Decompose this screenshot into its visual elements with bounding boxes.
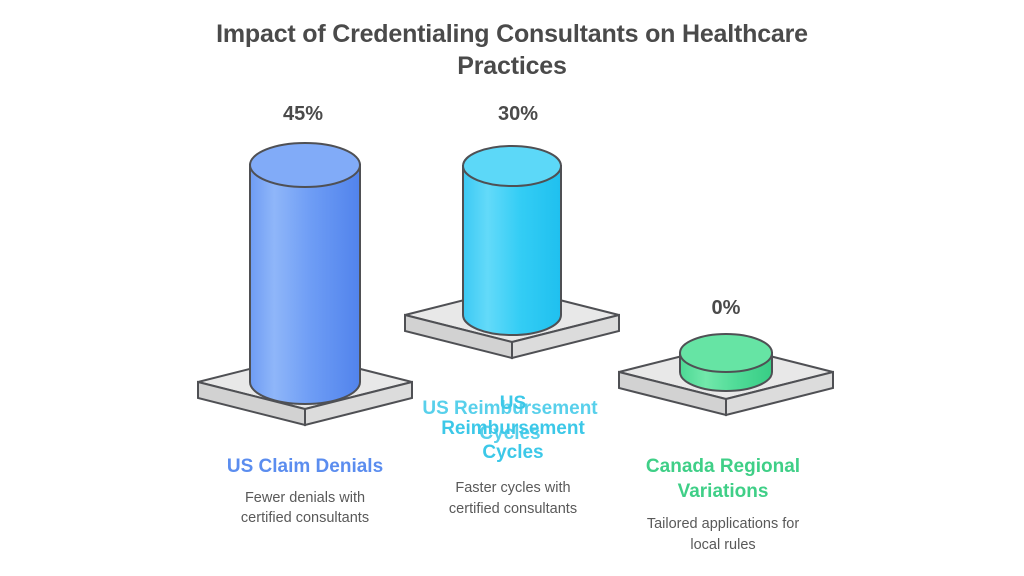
cylinder-1 xyxy=(250,143,360,404)
category-block-us-claim-denials: US Claim Denials Fewer denials with cert… xyxy=(190,455,420,529)
title-line-2: Reimbursement xyxy=(441,418,585,439)
bar-group-us-reimbursement-cycles[interactable] xyxy=(405,146,619,358)
title-line-1: Canada Regional xyxy=(646,456,800,477)
category-block-canada-regional-variations: Canada Regional Variations Tailored appl… xyxy=(608,455,838,556)
category-title-us-claim-denials: US Claim Denials xyxy=(190,455,420,480)
title-line-2: Variations xyxy=(678,481,769,502)
value-label-us-reimbursement-cycles: 30% xyxy=(458,103,578,126)
cylinder-top-ellipse xyxy=(463,146,561,186)
category-description-us-reimbursement-cycles: Faster cycles with certified consultants xyxy=(423,478,603,519)
category-description-us-claim-denials: Fewer denials with certified consultants xyxy=(190,488,420,529)
cylinder-top-ellipse xyxy=(250,143,360,187)
disc-top-ellipse xyxy=(680,334,772,372)
title-line-1: US xyxy=(500,393,526,414)
value-label-canada-regional-variations: 0% xyxy=(666,297,786,320)
desc-line-2: certified consultants xyxy=(449,501,577,517)
bar-group-us-claim-denials[interactable] xyxy=(198,143,412,425)
disc-3 xyxy=(680,334,772,391)
desc-line-2: local rules xyxy=(690,537,755,553)
cylinder-body xyxy=(463,166,561,335)
desc-line-2: certified consultants xyxy=(241,510,369,526)
category-title-canada-regional-variations: Canada Regional Variations xyxy=(608,455,838,504)
value-label-us-claim-denials: 45% xyxy=(243,103,363,126)
category-title-overlap-wrapper: US Reimbursement Cycles US Reimbursement… xyxy=(423,392,603,464)
bar-group-canada-regional-variations[interactable] xyxy=(619,334,833,415)
category-description-canada-regional-variations: Tailored applications for local rules xyxy=(608,514,838,555)
category-block-us-reimbursement-cycles: US Reimbursement Cycles US Reimbursement… xyxy=(423,392,603,519)
desc-line-1: Fewer denials with xyxy=(245,490,365,506)
cylinder-body xyxy=(250,165,360,404)
category-title-us-reimbursement-cycles: US Reimbursement Cycles xyxy=(423,392,603,466)
title-line-3: Cycles xyxy=(482,442,543,463)
cylinder-2 xyxy=(463,146,561,335)
infographic-canvas: Impact of Credentialing Consultants on H… xyxy=(0,0,1024,576)
desc-line-1: Tailored applications for xyxy=(647,516,799,532)
desc-line-1: Faster cycles with xyxy=(455,480,570,496)
